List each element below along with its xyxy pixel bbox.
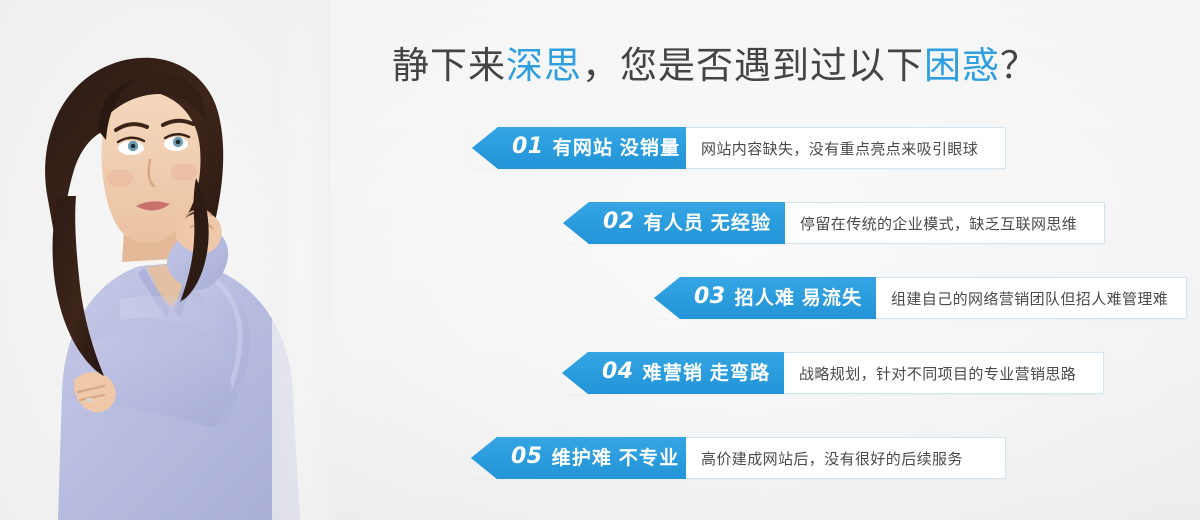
item-title: 难营销 走弯路 [643, 364, 771, 383]
item-title: 招人难 易流失 [735, 289, 863, 308]
item-title: 维护难 不专业 [552, 449, 680, 468]
item-number: 05 [511, 446, 543, 468]
list-item[interactable]: 02 有人员 无经验 停留在传统的企业模式，缺乏互联网思维 [563, 202, 1105, 244]
item-description: 战略规划，针对不同项目的专业营销思路 [784, 352, 1104, 394]
item-description: 高价建成网站后，没有很好的后续服务 [686, 437, 1006, 479]
list-item[interactable]: 01 有网站 没销量 网站内容缺失，没有重点亮点来吸引眼球 [472, 127, 1006, 169]
item-title: 有人员 无经验 [644, 214, 772, 233]
item-tag-02: 02 有人员 无经验 [563, 202, 785, 244]
item-number: 01 [512, 136, 544, 158]
banner-stage: 静下来深思，您是否遇到过以下困惑？ 01 有网站 没销量 网站内容缺失，没有重点… [0, 0, 1200, 520]
list-item[interactable]: 04 难营销 走弯路 战略规划，针对不同项目的专业营销思路 [562, 352, 1104, 394]
item-description: 组建自己的网络营销团队但招人难管理难 [876, 277, 1187, 319]
problem-list: 01 有网站 没销量 网站内容缺失，没有重点亮点来吸引眼球 02 有人员 无经验… [0, 0, 1200, 520]
list-item[interactable]: 05 维护难 不专业 高价建成网站后，没有很好的后续服务 [471, 437, 1006, 479]
item-title: 有网站 没销量 [553, 139, 681, 158]
item-description: 停留在传统的企业模式，缺乏互联网思维 [785, 202, 1105, 244]
item-number: 02 [603, 211, 635, 233]
item-description: 网站内容缺失，没有重点亮点来吸引眼球 [686, 127, 1006, 169]
list-item[interactable]: 03 招人难 易流失 组建自己的网络营销团队但招人难管理难 [654, 277, 1187, 319]
item-tag-05: 05 维护难 不专业 [471, 437, 686, 479]
item-tag-03: 03 招人难 易流失 [654, 277, 876, 319]
item-tag-04: 04 难营销 走弯路 [562, 352, 784, 394]
item-number: 03 [694, 286, 726, 308]
item-number: 04 [602, 361, 634, 383]
item-tag-01: 01 有网站 没销量 [472, 127, 686, 169]
